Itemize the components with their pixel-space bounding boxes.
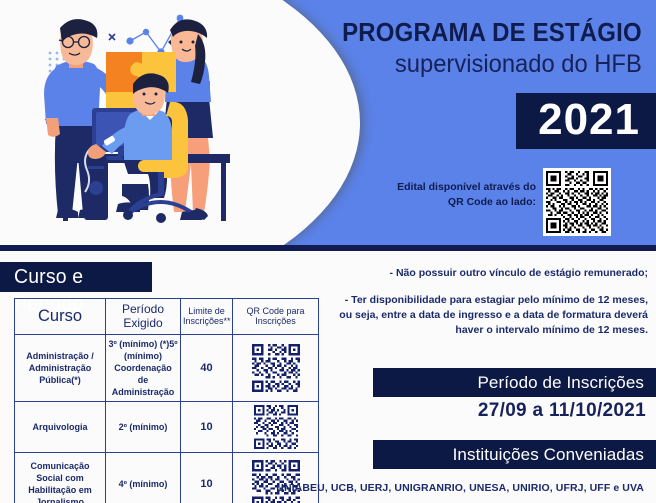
requirements-block: - Não possuir outro vínculo de estágio r… bbox=[336, 266, 648, 338]
registration-dates: 27/09 a 11/10/2021 bbox=[478, 400, 646, 422]
banner-institutions-label: Instituições Conveniadas bbox=[373, 440, 656, 469]
header-divider-band bbox=[0, 245, 656, 251]
poster-header: PROGRAMA DE ESTÁGIO supervisionado do HF… bbox=[0, 0, 656, 245]
courses-table-body: Administração / Administração Pública(*)… bbox=[15, 334, 319, 503]
cell-curso: Comunicação Social com Habilitação em Jo… bbox=[15, 453, 106, 503]
year-badge: 2021 bbox=[516, 93, 656, 149]
qr-code-icon[interactable] bbox=[235, 405, 316, 449]
cell-curso: Administração / Administração Pública(*) bbox=[15, 334, 106, 402]
section-banner-courses: Curso e Período bbox=[0, 262, 152, 292]
header-title-block: PROGRAMA DE ESTÁGIO supervisionado do HF… bbox=[323, 20, 642, 79]
poster-title-line1: PROGRAMA DE ESTÁGIO bbox=[342, 20, 642, 48]
qr-code-icon[interactable] bbox=[235, 344, 316, 392]
column-header-limite-line2: Inscrições** bbox=[183, 316, 230, 327]
table-row: Arquivologia 2º (mínimo) 10 bbox=[15, 402, 319, 453]
cell-qrcode[interactable] bbox=[233, 334, 319, 402]
edital-instruction-text: Edital disponível através do QR Code ao … bbox=[386, 180, 536, 210]
courses-table: Curso Período Exigido Limite de Inscriçõ… bbox=[14, 298, 319, 503]
column-header-periodo: Período Exigido bbox=[106, 299, 181, 335]
table-header-row: Curso Período Exigido Limite de Inscriçõ… bbox=[15, 299, 319, 335]
column-header-limite: Limite de Inscrições** bbox=[181, 299, 233, 335]
table-row: Comunicação Social com Habilitação em Jo… bbox=[15, 453, 319, 503]
year-badge-text: 2021 bbox=[538, 92, 640, 148]
column-header-limite-line1: Limite de bbox=[183, 306, 230, 317]
column-header-qrcode-line2: Inscrições bbox=[235, 316, 316, 327]
column-header-qrcode: QR Code para Inscrições bbox=[233, 299, 319, 335]
poster-title-line2: supervisionado do HFB bbox=[339, 49, 642, 79]
requirement-item-1: - Não possuir outro vínculo de estágio r… bbox=[336, 266, 648, 281]
banner-registration-period: Período de Inscrições bbox=[373, 368, 656, 397]
qr-code-icon[interactable] bbox=[543, 168, 611, 236]
cell-curso: Arquivologia bbox=[15, 402, 106, 453]
banner-registration-period-label: Período de Inscrições bbox=[373, 368, 656, 397]
internship-program-poster: PROGRAMA DE ESTÁGIO supervisionado do HF… bbox=[0, 0, 656, 503]
cell-periodo: 2º (mínimo) bbox=[106, 402, 181, 453]
column-header-qrcode-line1: QR Code para bbox=[235, 306, 316, 317]
cell-periodo: 3º (mínimo) (*)5º (mínimo) Coordenação d… bbox=[106, 334, 181, 402]
cell-limite: 10 bbox=[181, 453, 233, 503]
column-header-curso: Curso bbox=[15, 299, 106, 335]
cell-limite: 40 bbox=[181, 334, 233, 402]
cell-qrcode[interactable] bbox=[233, 402, 319, 453]
cell-periodo: 4º (mínimo) bbox=[106, 453, 181, 503]
courses-table-head: Curso Período Exigido Limite de Inscriçõ… bbox=[15, 299, 319, 335]
banner-institutions: Instituições Conveniadas bbox=[373, 440, 656, 469]
cell-limite: 10 bbox=[181, 402, 233, 453]
cell-qrcode[interactable] bbox=[233, 453, 319, 503]
teamwork-puzzle-illustration bbox=[18, 6, 273, 234]
requirement-item-2: - Ter disponibilidade para estagiar pelo… bbox=[336, 293, 648, 339]
institutions-list: UNIABEU, UCB, UERJ, UNIGRANRIO, UNESA, U… bbox=[276, 482, 644, 494]
table-row: Administração / Administração Pública(*)… bbox=[15, 334, 319, 402]
x-mark-decoration bbox=[109, 34, 115, 40]
qr-code-icon-svg bbox=[546, 171, 608, 233]
